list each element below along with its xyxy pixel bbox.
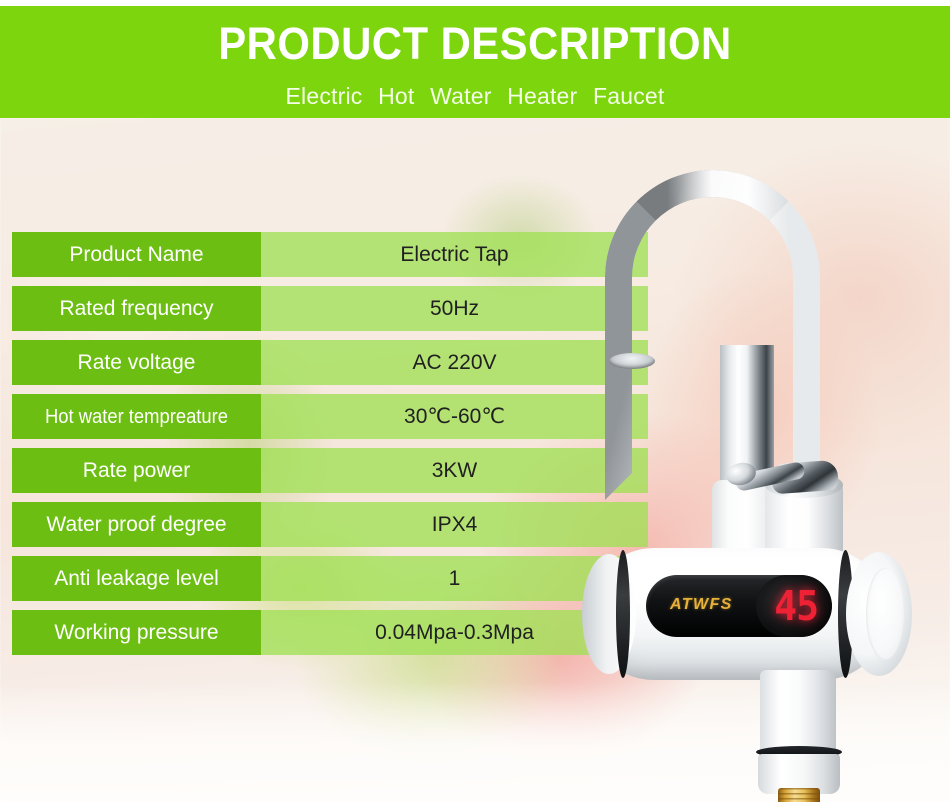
table-row: Water proof degree IPX4 [12, 502, 648, 547]
brand-label: ATWFS [670, 595, 733, 615]
spec-label: Anti leakage level [12, 556, 261, 601]
spout-highlight [605, 170, 820, 500]
table-row: Rate voltage AC 220V [12, 340, 648, 385]
spec-label: Rate power [12, 448, 261, 493]
table-row: Rated frequency 50Hz [12, 286, 648, 331]
table-row: Anti leakage level 1 [12, 556, 648, 601]
product-description-page: PRODUCT DESCRIPTION Electric Hot Water H… [0, 0, 950, 802]
spec-label: Water proof degree [12, 502, 261, 547]
led-temperature-readout: 45 [774, 581, 818, 631]
black-accent-ring-left [616, 550, 630, 678]
header-banner: PRODUCT DESCRIPTION Electric Hot Water H… [0, 6, 950, 118]
spec-label: Rate voltage [12, 340, 261, 385]
spec-label: Working pressure [12, 610, 261, 655]
spec-label: Rated frequency [12, 286, 261, 331]
spout-outlet [609, 353, 655, 369]
spec-label: Product Name [12, 232, 261, 277]
specification-table: Product Name Electric Tap Rated frequenc… [12, 232, 648, 664]
table-row: Hot water tempreature 30℃-60℃ [12, 394, 648, 439]
table-row: Working pressure 0.04Mpa-0.3Mpa [12, 610, 648, 655]
page-title: PRODUCT DESCRIPTION [33, 18, 917, 70]
page-subtitle: Electric Hot Water Heater Faucet [0, 82, 950, 110]
faucet-spout [605, 170, 820, 370]
led-display-panel: ATWFS 45 [646, 575, 832, 637]
heater-body-right-cap-inner [866, 568, 904, 660]
faucet-product-image: ATWFS 45 [560, 150, 950, 802]
table-row: Rate power 3KW [12, 448, 648, 493]
table-row: Product Name Electric Tap [12, 232, 648, 277]
spec-label: Hot water tempreature [12, 394, 261, 439]
brass-threaded-connector [778, 788, 820, 802]
